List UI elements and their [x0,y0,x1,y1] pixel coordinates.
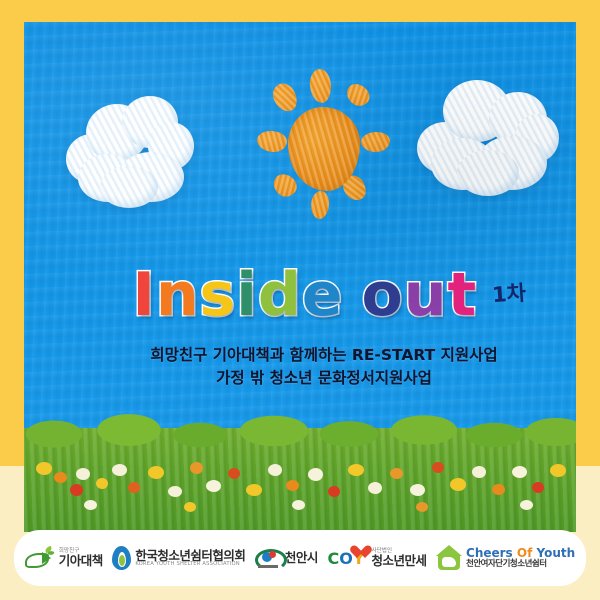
logo-kiadaechaek: 희망친구 기아대책 [25,548,103,568]
cloud-right-icon [417,74,559,196]
title-letter: I [132,260,155,330]
fish-icon [25,548,55,568]
sun-ray-s [310,190,331,220]
poster-title-block: Insideout 1차 [24,265,576,325]
title-letter: s [200,260,237,330]
logo-cheers-of-youth: Cheers Of Youth 천안여자단기청소년쉼터 [436,545,575,571]
sun-icon [256,69,392,219]
sun-ray-sw [269,170,301,201]
poster-root: Insideout 1차 희망친구 기아대책과 함께하는 RE-START 지원… [0,0,600,600]
sun-body [288,107,360,191]
cloud-left-icon [66,96,194,208]
logo-cheonan-name: 천안시 [285,551,318,564]
sun-ray-nw [269,80,301,116]
subtitle-line-2: 가정 밖 청소년 문화정서지원사업 [24,367,576,390]
subtitle-line-1: 희망친구 기아대책과 함께하는 RE-START 지원사업 [24,344,576,367]
page-title: Insideout [132,265,477,325]
title-letter: i [236,260,258,330]
poster-subtitle: 희망친구 기아대책과 함께하는 RE-START 지원사업 가정 밖 청소년 문… [24,344,576,391]
painted-sky-canvas: Insideout 1차 희망친구 기아대책과 함께하는 RE-START 지원… [24,22,576,532]
flower-field [24,428,576,532]
cheonan-city-icon [255,547,281,569]
title-letter: u [404,260,448,330]
logo-youth-shelter-association: 한국청소년쉼터협의회 KOREA YOUTH SHELTER ASSOCIATI… [112,546,245,570]
sponsor-logo-bar: 희망친구 기아대책 한국청소년쉼터협의회 KOREA YOUTH SHELTER… [14,530,586,586]
title-letter: o [361,260,403,330]
coy-letter-c: C [327,549,339,568]
logo-coy-korean-name: 천안여자단기청소년쉼터 [466,560,575,569]
logo-shelter-subname: KOREA YOUTH SHELTER ASSOCIATION [135,562,245,567]
logo-shelter-name: 한국청소년쉼터협의회 [135,549,245,562]
field-top-edge [24,408,576,454]
logo-kiadaechaek-name: 기아대책 [59,554,103,567]
logo-manse-name: 청소년만세 [371,554,426,567]
sun-ray-n [309,68,332,103]
title-letter: t [447,260,477,330]
title-letter: n [156,260,200,330]
house-hands-icon [436,545,462,571]
edition-badge: 1차 [491,277,527,309]
title-letter: e [302,260,344,330]
logo-cheongsonyeon-manse: C O Y 사단법인 청소년만세 [327,547,426,569]
logo-cheonan-city: 천안시 [255,547,318,569]
coy-heart-icon: C O Y [327,547,367,569]
water-drop-icon [112,546,131,570]
sun-ray-ne [342,80,373,111]
sun-ray-e [360,131,390,153]
title-letter: d [258,260,302,330]
heart-icon [349,546,365,561]
sun-ray-w [256,130,288,154]
